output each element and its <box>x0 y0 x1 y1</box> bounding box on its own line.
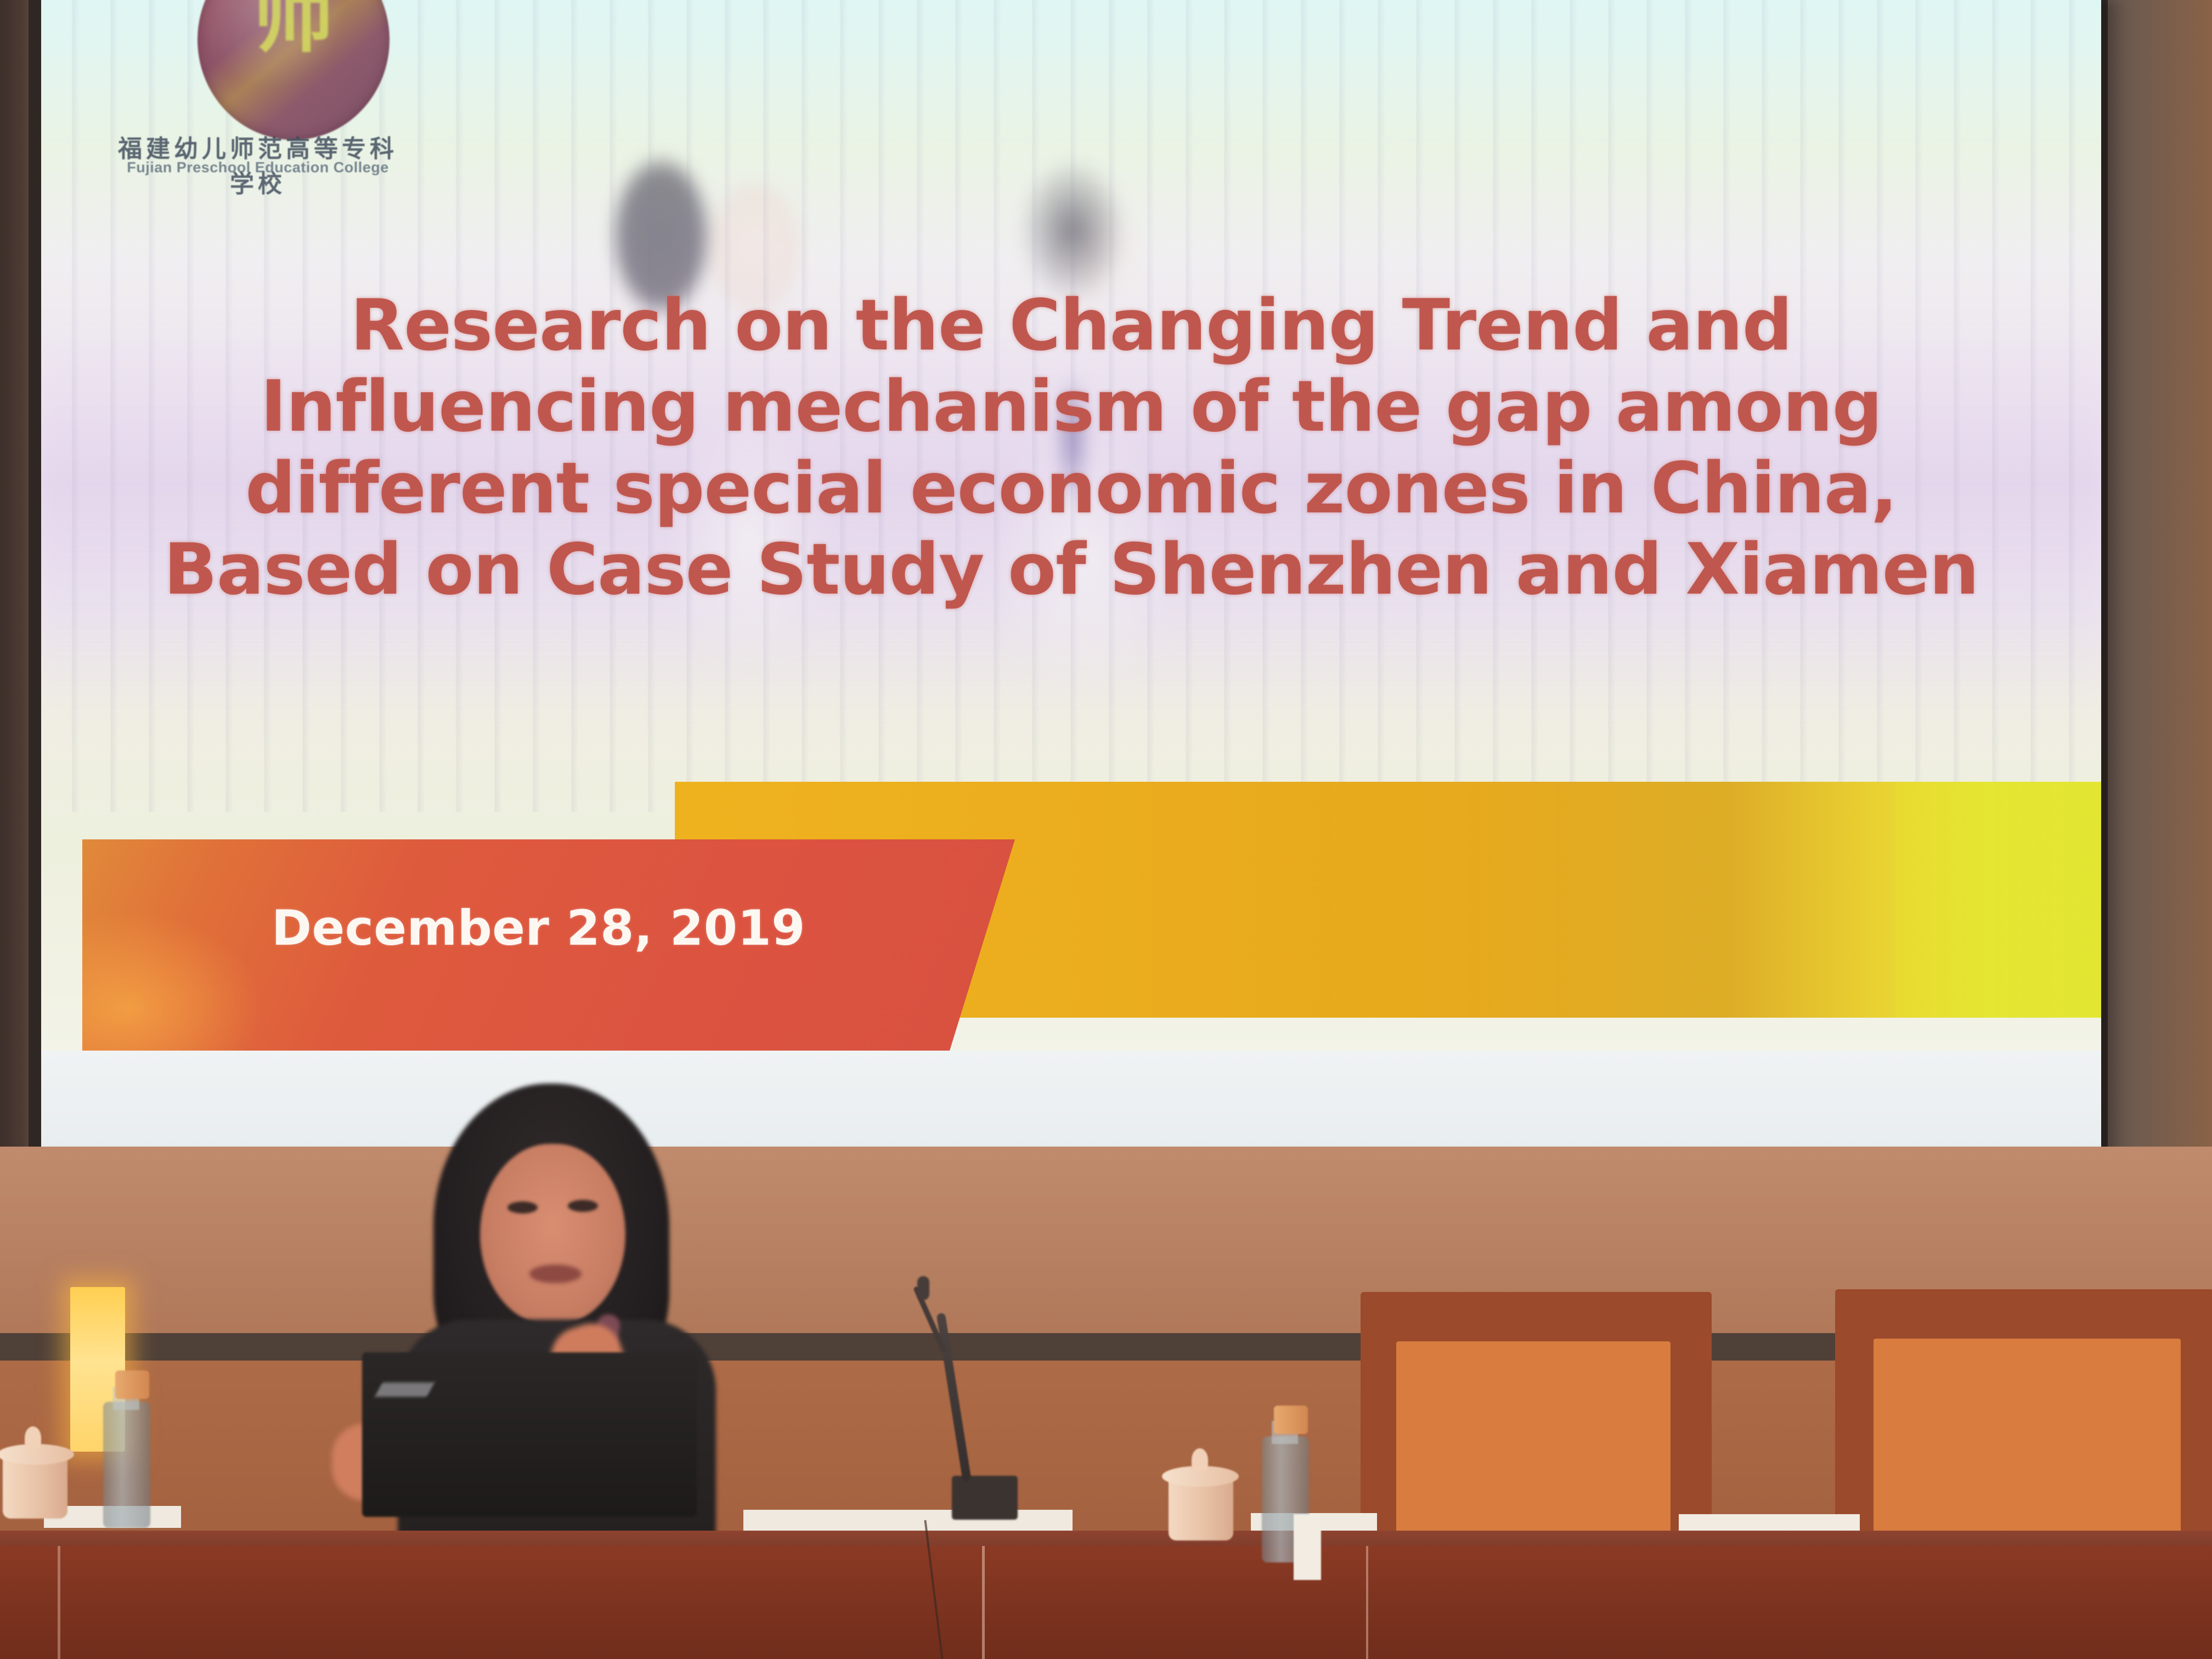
date-banner-glow <box>82 911 263 1051</box>
slide-title: Research on the Changing Trend and Influ… <box>41 285 2101 611</box>
microphone-base <box>952 1476 1018 1520</box>
chair-right-cushion <box>1874 1339 2181 1533</box>
presentation-date: December 28, 2019 <box>272 900 805 956</box>
microphone-capsule <box>917 1276 929 1300</box>
presentation-slide: 师 福建幼儿师范高等专科学校 Fujian Preschool Educatio… <box>41 0 2101 1149</box>
table-skirt-fold-2 <box>1366 1546 1368 1659</box>
teacup-center-knob <box>1192 1448 1208 1471</box>
table-skirt-fold-1 <box>982 1546 985 1659</box>
table-skirt <box>0 1546 2212 1659</box>
title-line-1: Research on the Changing Trend and <box>91 285 2052 366</box>
lecture-hall-photo: 师 福建幼儿师范高等专科学校 Fujian Preschool Educatio… <box>0 0 2212 1659</box>
presenter-mouth <box>529 1265 582 1283</box>
laptop-screen-glare <box>375 1383 435 1397</box>
laptop <box>362 1352 697 1517</box>
tablecloth-segment-b <box>743 1510 1073 1531</box>
teacup-left-knob <box>25 1426 41 1449</box>
chair-left-cushion <box>1396 1341 1671 1533</box>
gold-accent-band-highlight <box>1895 782 2101 1018</box>
seal-glyph: 师 <box>244 0 343 66</box>
college-logo: 师 福建幼儿师范高等专科学校 Fujian Preschool Educatio… <box>85 0 425 198</box>
tablecloth-segment-d <box>1679 1514 1860 1533</box>
water-bottle-center-cap <box>1274 1406 1308 1434</box>
table-skirt-fold-3 <box>58 1546 60 1659</box>
water-bottle-left <box>103 1402 150 1528</box>
name-card <box>1294 1514 1321 1580</box>
water-bottle-left-cap <box>115 1370 149 1399</box>
title-line-2: Influencing mechanism of the gap among <box>91 366 2052 448</box>
presenter-eye-left <box>507 1201 538 1214</box>
presenter-eye-right <box>568 1200 598 1212</box>
title-line-3: different special economic zones in Chin… <box>91 448 2052 529</box>
title-line-4: Based on Case Study of Shenzhen and Xiam… <box>91 529 2052 611</box>
presenter-face <box>480 1144 625 1325</box>
college-name-english: Fujian Preschool Education College <box>115 159 400 176</box>
